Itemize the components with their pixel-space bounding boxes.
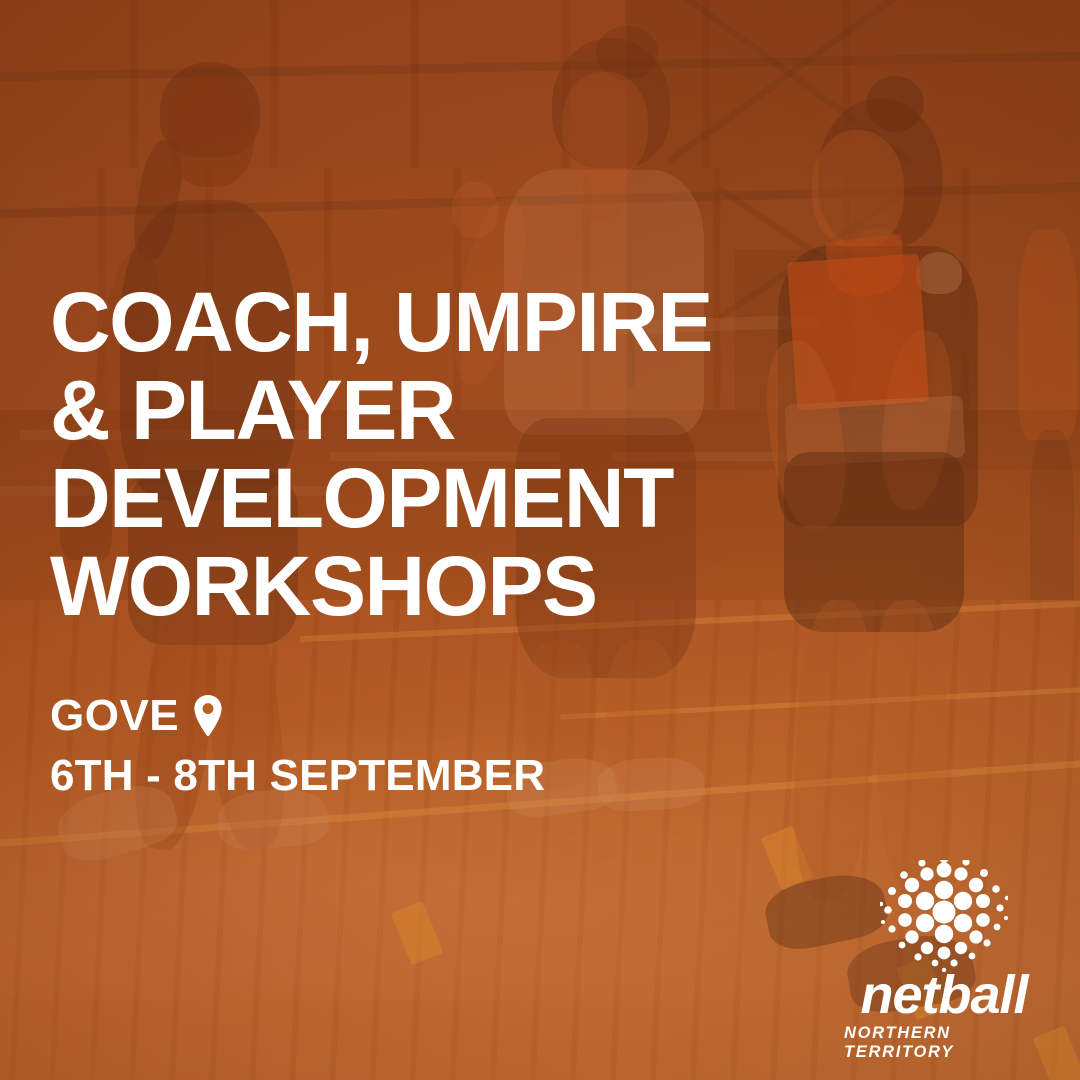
map-pin-icon — [193, 695, 223, 737]
event-location: GOVE — [50, 694, 545, 738]
poster-content: COACH, UMPIRE & PLAYER DEVELOPMENT WORKS… — [0, 0, 1080, 1080]
logo-wordmark: netball — [860, 970, 1027, 1021]
location-label: GOVE — [50, 694, 179, 738]
event-date: 6TH - 8TH SEPTEMBER — [50, 754, 545, 798]
netball-nt-logo: netball NORTHERN TERRITORY — [844, 860, 1044, 1062]
netball-dot-burst-icon — [880, 860, 1008, 972]
page-title: COACH, UMPIRE & PLAYER DEVELOPMENT WORKS… — [50, 278, 840, 630]
event-details: GOVE 6TH - 8TH SEPTEMBER — [50, 694, 545, 798]
poster-canvas: COACH, UMPIRE & PLAYER DEVELOPMENT WORKS… — [0, 0, 1080, 1080]
logo-tagline: NORTHERN TERRITORY — [844, 1024, 1044, 1062]
